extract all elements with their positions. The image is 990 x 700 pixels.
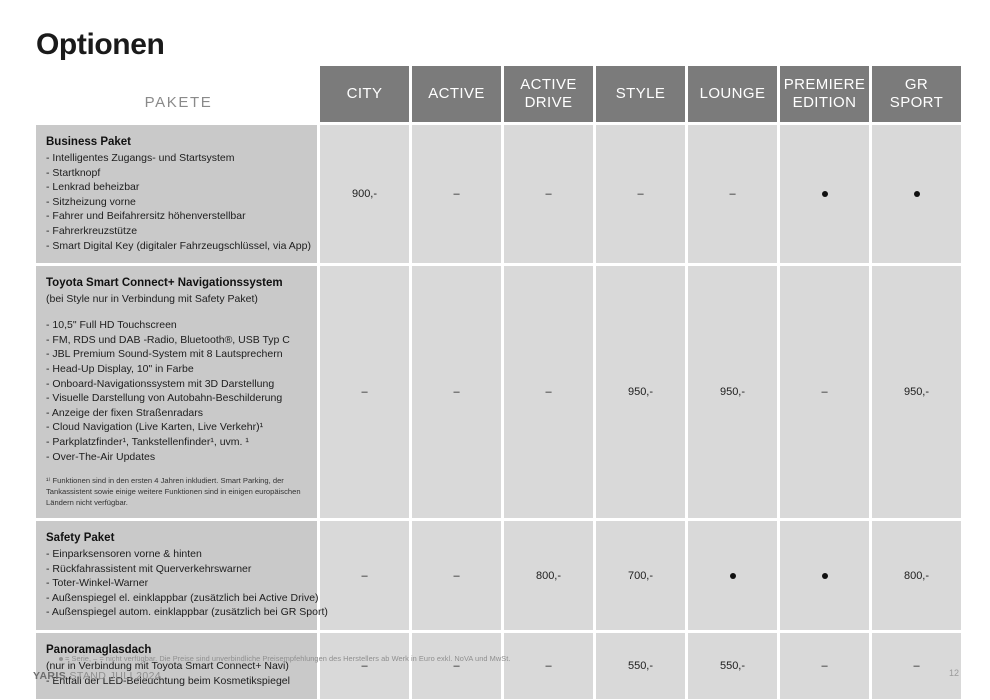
column-header-active-drive: ACTIVE DRIVE: [504, 66, 593, 122]
table-row: Safety Paket - Einparksensoren vorne & h…: [36, 521, 961, 630]
feature-item: - Startknopf: [46, 166, 307, 181]
standard-dot-icon: [822, 573, 828, 579]
package-title: Business Paket: [46, 135, 307, 150]
column-header-gr-sport: GR SPORT: [872, 66, 961, 122]
table-row: Business Paket - Intelligentes Zugangs- …: [36, 125, 961, 263]
feature-item: - Over-The-Air Updates: [46, 450, 307, 465]
table-header-row: PAKETE CITY ACTIVE ACTIVE DRIVE STYLE LO…: [36, 66, 961, 122]
value-cell-premiere-edition: [780, 521, 869, 630]
column-header-active-line1: ACTIVE: [413, 85, 500, 103]
model-name: YARIS: [33, 670, 66, 682]
column-header-active: ACTIVE: [412, 66, 501, 122]
column-header-gr-sport-line2: SPORT: [873, 94, 960, 112]
value-cell-gr-sport: 950,-: [872, 266, 961, 518]
feature-item: - 10,5" Full HD Touchscreen: [46, 318, 307, 333]
value-cell-gr-sport: 800,-: [872, 521, 961, 630]
value-cell-active: –: [412, 266, 501, 518]
feature-item: - Intelligentes Zugangs- und Startsystem: [46, 151, 307, 166]
package-footnote: ¹⁾ Funktionen sind in den ersten 4 Jahre…: [46, 475, 307, 508]
feature-item: - Lenkrad beheizbar: [46, 180, 307, 195]
feature-item: - Onboard-Navigationssystem mit 3D Darst…: [46, 377, 307, 392]
value-cell-active: –: [412, 125, 501, 263]
value-cell-premiere-edition: [780, 125, 869, 263]
column-header-style-line1: STYLE: [597, 85, 684, 103]
package-cell-business-paket: Business Paket - Intelligentes Zugangs- …: [36, 125, 317, 263]
feature-item: - Einparksensoren vorne & hinten: [46, 547, 307, 562]
model-stand-line: YARIS STAND JULI 2024: [33, 670, 959, 682]
package-title: Safety Paket: [46, 531, 307, 546]
column-header-premiere-edition-line2: EDITION: [781, 94, 868, 112]
options-page: Optionen PAKETE CITY ACTIVE ACTIVE DRIVE: [0, 0, 990, 700]
legend-dot-icon: [59, 657, 63, 661]
package-feature-list: - Intelligentes Zugangs- und Startsystem…: [46, 151, 307, 253]
packages-header-label: PAKETE: [145, 94, 213, 111]
package-cell-toyota-smart-connect: Toyota Smart Connect+ Navigationssystem …: [36, 266, 317, 518]
feature-item: - JBL Premium Sound-System mit 8 Lautspr…: [46, 347, 307, 362]
feature-item: - Fahrer und Beifahrersitz höhenverstell…: [46, 209, 307, 224]
value-cell-lounge: 950,-: [688, 266, 777, 518]
value-cell-lounge: [688, 521, 777, 630]
feature-item: - Parkplatzfinder¹, Tankstellenfinder¹, …: [46, 435, 307, 450]
feature-item: - Außenspiegel autom. einklappbar (zusät…: [46, 605, 307, 620]
column-header-city: CITY: [320, 66, 409, 122]
packages-header: PAKETE: [36, 66, 317, 122]
package-feature-list: - Einparksensoren vorne & hinten - Rückf…: [46, 547, 307, 620]
feature-item: - Fahrerkreuzstütze: [46, 224, 307, 239]
feature-item: - Anzeige der fixen Straßenradars: [46, 406, 307, 421]
feature-item: - FM, RDS und DAB -Radio, Bluetooth®, US…: [46, 333, 307, 348]
standard-dot-icon: [914, 191, 920, 197]
legend-note-text: = Serie, – = nicht verfügbar. Die Preise…: [65, 654, 510, 663]
feature-item: - Head-Up Display, 10" in Farbe: [46, 362, 307, 377]
column-header-style: STYLE: [596, 66, 685, 122]
page-title: Optionen: [36, 28, 164, 62]
feature-item: - Visuelle Darstellung von Autobahn-Besc…: [46, 391, 307, 406]
column-header-lounge: LOUNGE: [688, 66, 777, 122]
feature-item: - Sitzheizung vorne: [46, 195, 307, 210]
package-feature-list: - 10,5" Full HD Touchscreen - FM, RDS un…: [46, 318, 307, 464]
value-cell-premiere-edition: –: [780, 266, 869, 518]
value-cell-style: 700,-: [596, 521, 685, 630]
table-row: Toyota Smart Connect+ Navigationssystem …: [36, 266, 961, 518]
column-header-active-drive-line2: DRIVE: [505, 94, 592, 112]
value-cell-active-drive: –: [504, 125, 593, 263]
column-header-premiere-edition-line1: PREMIERE: [781, 76, 868, 94]
legend-note: = Serie, – = nicht verfügbar. Die Preise…: [33, 653, 959, 665]
feature-item: - Toter-Winkel-Warner: [46, 576, 307, 591]
value-cell-city: –: [320, 521, 409, 630]
table-body: Business Paket - Intelligentes Zugangs- …: [36, 125, 961, 699]
feature-item: - Smart Digital Key (digitaler Fahrzeugs…: [46, 239, 307, 254]
column-header-city-line1: CITY: [321, 85, 408, 103]
options-table: PAKETE CITY ACTIVE ACTIVE DRIVE STYLE LO…: [33, 63, 964, 700]
value-cell-city: –: [320, 266, 409, 518]
package-cell-safety-paket: Safety Paket - Einparksensoren vorne & h…: [36, 521, 317, 630]
column-header-gr-sport-line1: GR: [873, 76, 960, 94]
page-number: 12: [949, 668, 959, 678]
value-cell-active-drive: –: [504, 266, 593, 518]
page-footer: = Serie, – = nicht verfügbar. Die Preise…: [33, 653, 959, 682]
value-cell-style: –: [596, 125, 685, 263]
model-stand-suffix: STAND JULI 2024: [66, 670, 161, 682]
column-header-active-drive-line1: ACTIVE: [505, 76, 592, 94]
value-cell-style: 950,-: [596, 266, 685, 518]
value-cell-active-drive: 800,-: [504, 521, 593, 630]
column-header-lounge-line1: LOUNGE: [689, 85, 776, 103]
feature-item: - Cloud Navigation (Live Karten, Live Ve…: [46, 420, 307, 435]
feature-item: - Rückfahrassistent mit Querverkehrswarn…: [46, 562, 307, 577]
package-title: Toyota Smart Connect+ Navigationssystem: [46, 276, 307, 291]
standard-dot-icon: [822, 191, 828, 197]
package-subtitle: (bei Style nur in Verbindung mit Safety …: [46, 292, 307, 307]
value-cell-city: 900,-: [320, 125, 409, 263]
column-header-premiere-edition: PREMIERE EDITION: [780, 66, 869, 122]
value-cell-active: –: [412, 521, 501, 630]
value-cell-lounge: –: [688, 125, 777, 263]
standard-dot-icon: [730, 573, 736, 579]
feature-item: - Außenspiegel el. einklappbar (zusätzli…: [46, 591, 307, 606]
value-cell-gr-sport: [872, 125, 961, 263]
